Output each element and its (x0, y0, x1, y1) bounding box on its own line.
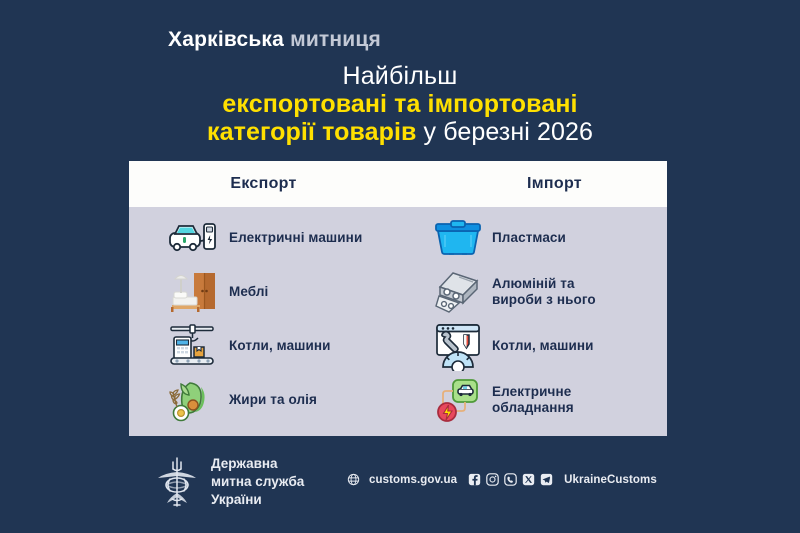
title-line-3-period: у березні 2026 (417, 118, 593, 146)
facebook-icon[interactable] (468, 473, 481, 486)
list-item-label-text: Алюміній та вироби з нього (492, 276, 596, 307)
list-item-label: Меблі (229, 284, 268, 300)
instagram-icon[interactable] (486, 473, 499, 486)
title-line-3-highlight: категорії товарів (207, 118, 417, 146)
x-twitter-icon[interactable] (522, 473, 535, 486)
list-item-label-text: Електричне обладнання (492, 384, 574, 415)
brand-city: Харківська (168, 28, 284, 51)
telegram-icon[interactable] (540, 473, 553, 486)
list-item-label: Котли, машини (492, 338, 594, 354)
list-item-label: Жири та олія (229, 392, 317, 408)
avocado-grain-oil-icon (168, 375, 218, 425)
list-item-label: Пластмаси (492, 230, 566, 246)
list-item-label: Електричне обладнання (492, 384, 574, 416)
globe-icon[interactable] (347, 473, 360, 486)
list-item: Котли, машини (168, 319, 398, 373)
furniture-bed-wardrobe-icon (168, 267, 218, 317)
electric-car-charging-icon (168, 213, 218, 263)
infographic-root: Харківська митниця Найбільш експортовані… (0, 0, 800, 533)
footer-org-name: Державна митна служба України (211, 455, 304, 508)
list-item-label: Алюміній та вироби з нього (492, 276, 596, 308)
title-line-1: Найбільш (0, 62, 800, 90)
page-title: Найбільш експортовані та імпортовані кат… (0, 62, 800, 146)
footer-org-line-3: України (211, 492, 262, 507)
export-column: Електричні машини (129, 211, 398, 436)
list-item: Котли, машини (433, 319, 667, 373)
footer-org-line-1: Державна (211, 456, 278, 471)
list-item: Меблі (168, 265, 398, 319)
card-body: Електричні машини (129, 207, 667, 436)
viber-icon[interactable] (504, 473, 517, 486)
footer-social-bar: customs.gov.ua UkraineCustoms (347, 473, 657, 486)
brand-office: митниця (290, 28, 381, 51)
customs-caduceus-trident-emblem-icon (152, 455, 202, 509)
website-label[interactable]: customs.gov.ua (369, 474, 457, 486)
aluminium-profiles-icon (433, 267, 483, 317)
title-line-2: експортовані та імпортовані (0, 90, 800, 118)
import-column: Пластмаси (398, 211, 667, 436)
card-header-row: Експорт Імпорт (129, 161, 667, 207)
list-item-label: Електричні машини (229, 230, 362, 246)
list-item: Жири та олія (168, 373, 398, 427)
column-header-export: Експорт (129, 175, 420, 193)
list-item: Пластмаси (433, 211, 667, 265)
plastic-container-icon (433, 213, 483, 263)
wrench-gear-machine-icon (433, 321, 483, 371)
list-item-label: Котли, машини (229, 338, 331, 354)
footer-logo: Державна митна служба України (152, 455, 304, 509)
list-item: Електричне обладнання (433, 373, 667, 427)
social-handle-label[interactable]: UkraineCustoms (564, 474, 657, 486)
brand-line: Харківська митниця (168, 28, 381, 52)
list-item: Електричні машини (168, 211, 398, 265)
column-header-import: Імпорт (420, 175, 667, 193)
categories-card: Експорт Імпорт (129, 161, 667, 436)
title-line-3: категорії товарів у березні 2026 (0, 118, 800, 146)
list-item: Алюміній та вироби з нього (433, 265, 667, 319)
electric-equipment-icon (433, 375, 483, 425)
factory-machine-icon (168, 321, 218, 371)
footer-org-line-2: митна служба (211, 474, 304, 489)
